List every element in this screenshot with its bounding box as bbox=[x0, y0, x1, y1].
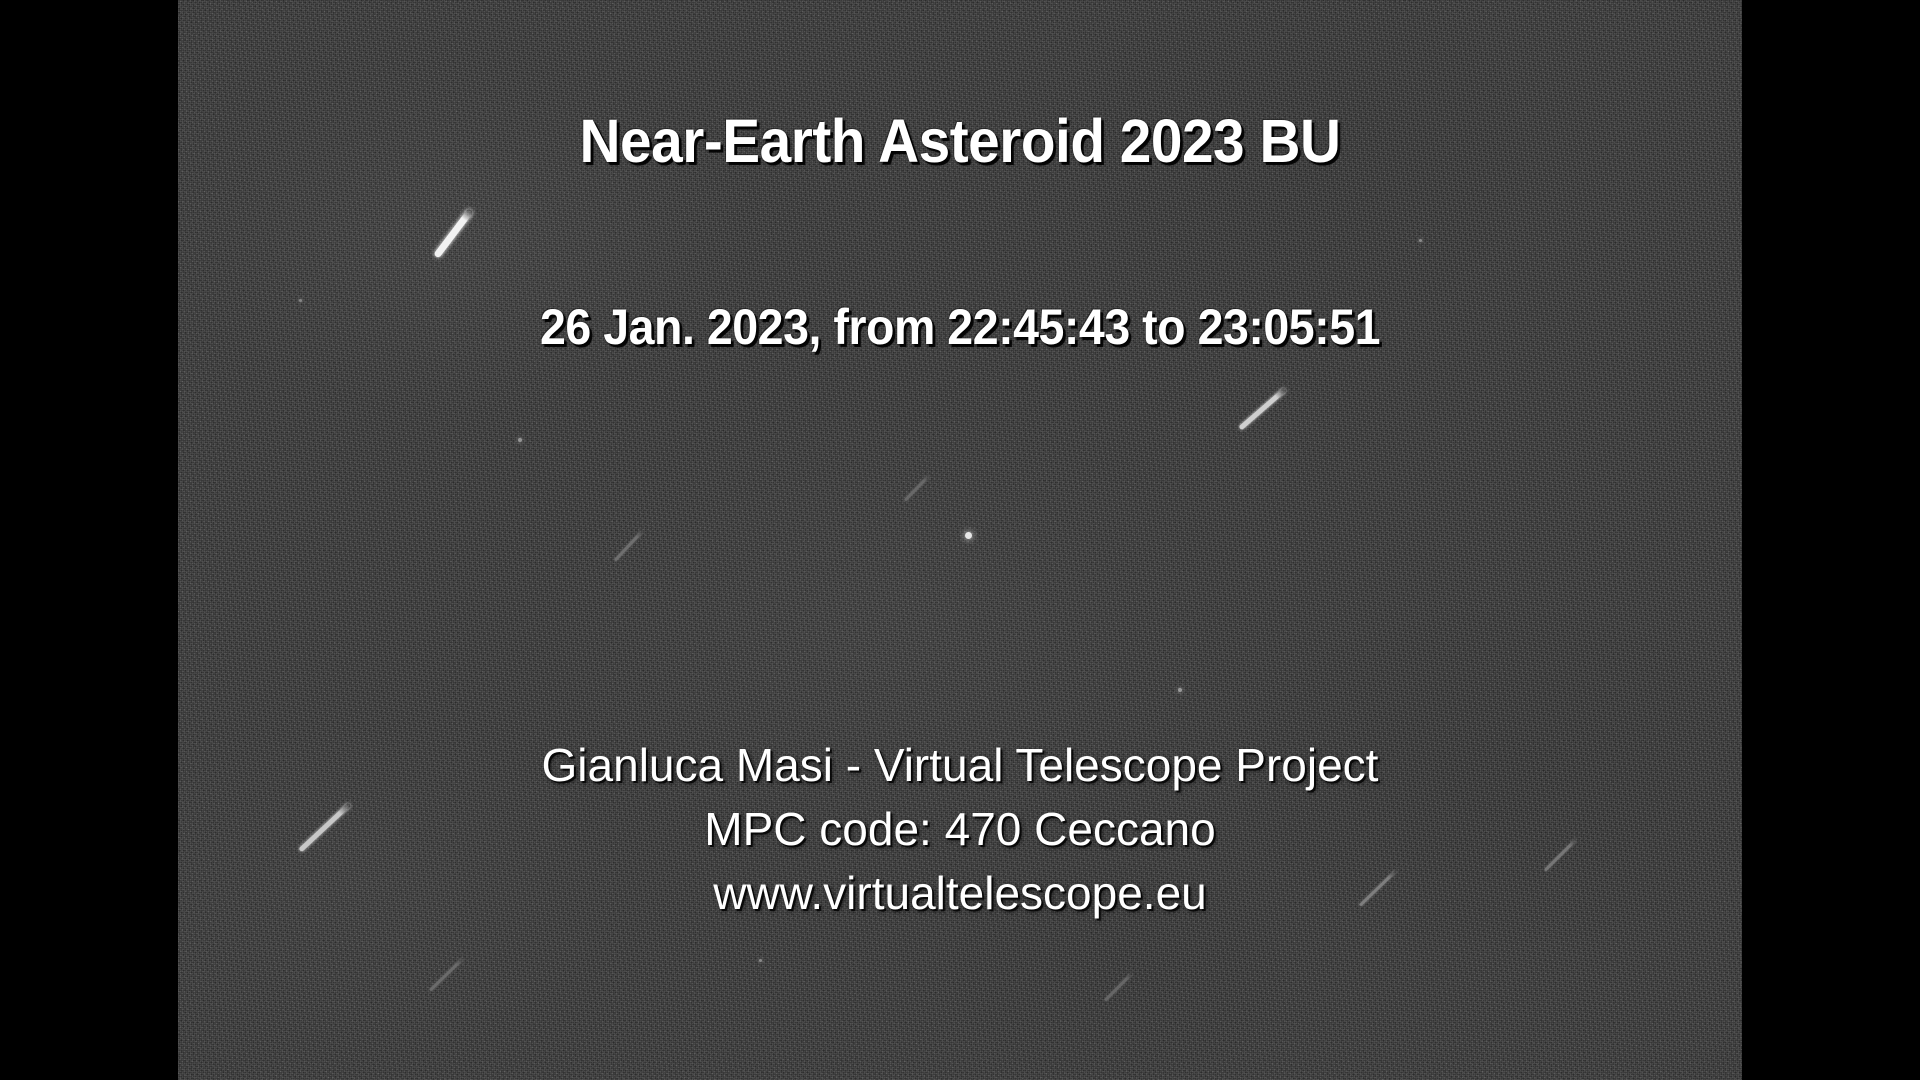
star-trail-faint-d bbox=[429, 957, 464, 991]
star-trail-faint-a bbox=[1359, 869, 1397, 906]
star-trail-lower-left bbox=[298, 802, 351, 852]
video-frame-stage: Near-Earth Asteroid 2023 BU 26 Jan. 2023… bbox=[0, 0, 1920, 1080]
star-point-c bbox=[1419, 239, 1422, 242]
star-trail-faint-e bbox=[904, 475, 930, 502]
sensor-noise-layer-3 bbox=[178, 0, 1742, 1080]
sensor-noise-layer-1 bbox=[178, 0, 1742, 1080]
asteroid-trail-primary bbox=[433, 208, 473, 259]
star-trail-faint-f bbox=[1104, 972, 1133, 1001]
star-trail-right bbox=[1238, 387, 1287, 430]
star-point-e bbox=[299, 299, 302, 302]
sensor-noise-layer-2 bbox=[178, 0, 1742, 1080]
star-point-a bbox=[1178, 688, 1182, 692]
vignette-overlay bbox=[178, 0, 1742, 1080]
star-point-d bbox=[759, 959, 762, 962]
pillarbox-left bbox=[0, 0, 178, 1080]
star-point-b bbox=[518, 438, 522, 442]
pillarbox-right bbox=[1742, 0, 1920, 1080]
star-point-center bbox=[965, 532, 972, 539]
sky-luminance-variation bbox=[178, 0, 1742, 1080]
star-trail-faint-c bbox=[614, 530, 643, 561]
telescope-image-field bbox=[178, 0, 1742, 1080]
star-trail-faint-b bbox=[1544, 838, 1577, 871]
